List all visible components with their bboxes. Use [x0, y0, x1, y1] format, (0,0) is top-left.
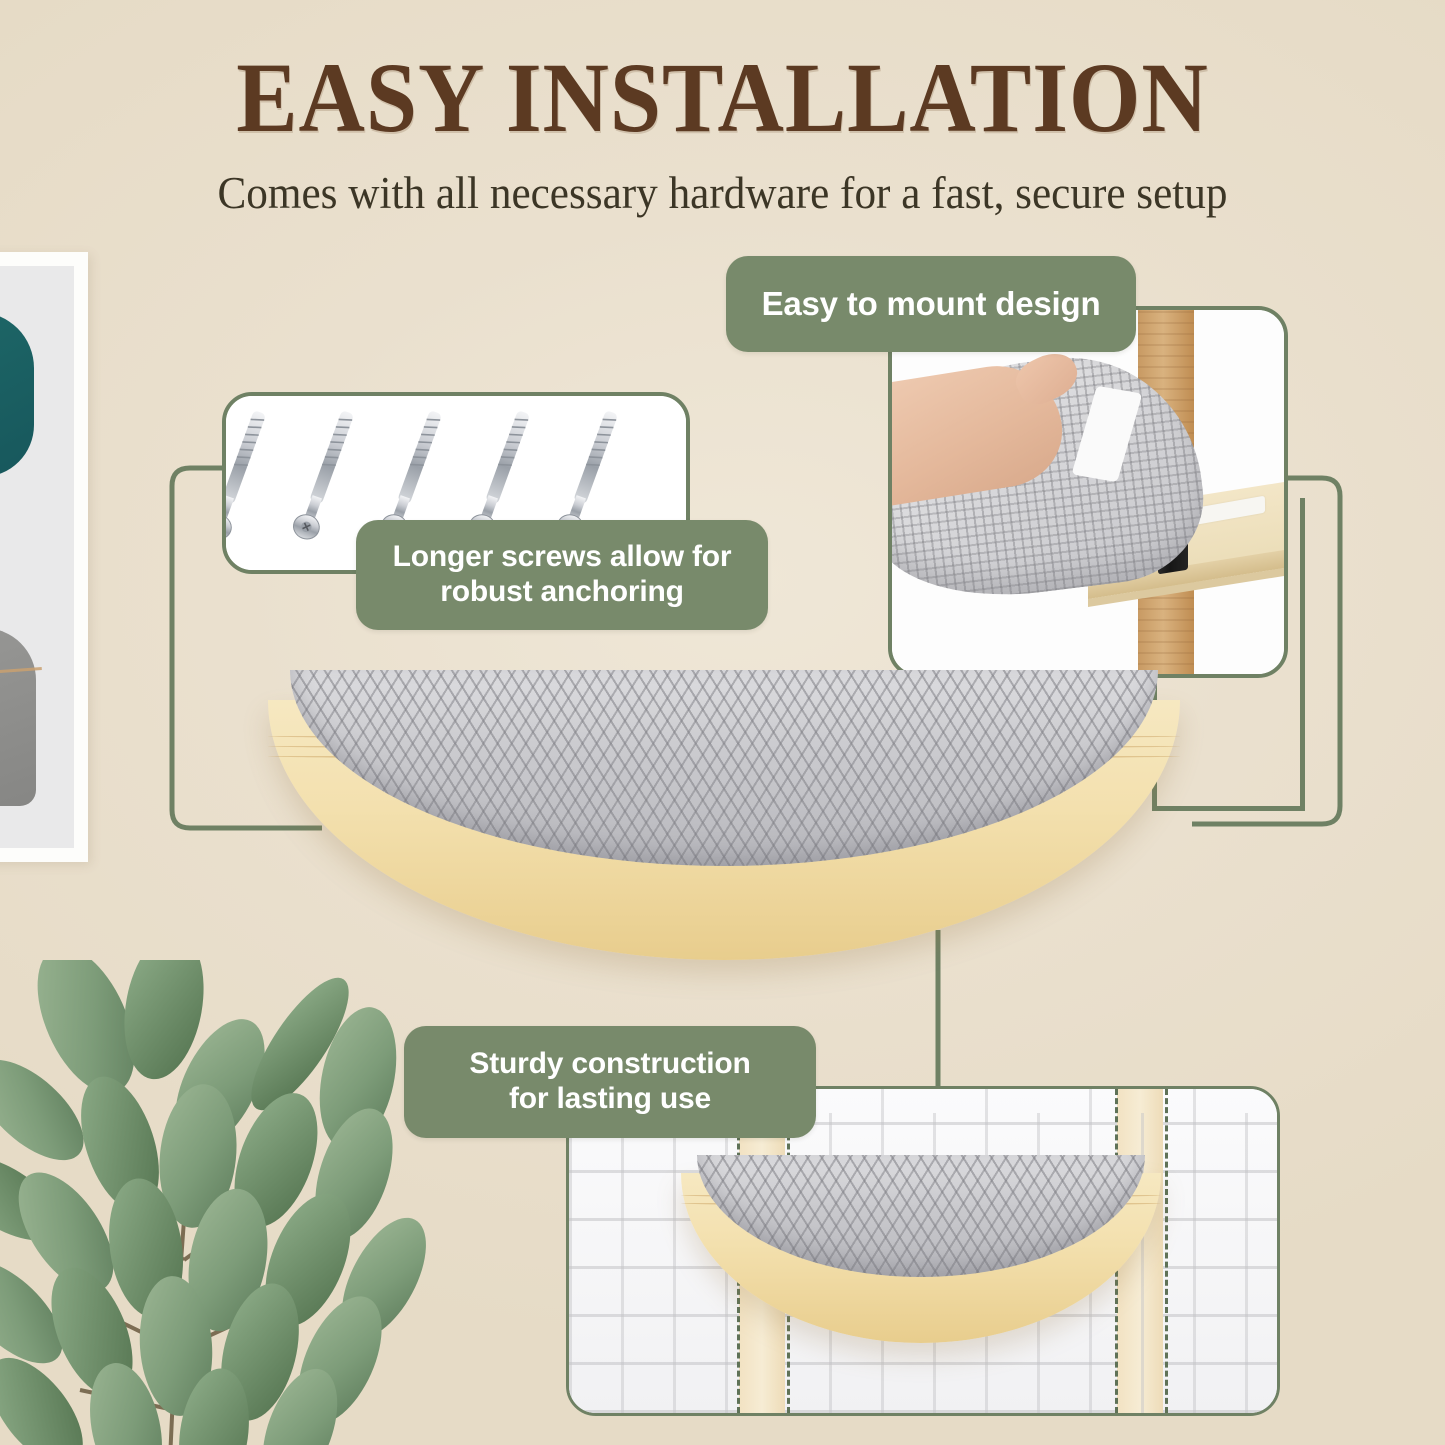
wall-mounted-hammock	[681, 1173, 1161, 1343]
teal-shape	[0, 312, 34, 477]
callout-longer-screws[interactable]: Longer screws allow for robust anchoring	[356, 520, 768, 630]
page-subtitle: Comes with all necessary hardware for a …	[29, 170, 1416, 217]
callout-easy-to-mount-label: Easy to mount design	[762, 285, 1101, 323]
gray-shape	[0, 628, 36, 806]
art-mat	[0, 266, 74, 848]
callout-longer-screws-line2: robust anchoring	[440, 575, 683, 610]
page-title: EASY INSTALLATION	[58, 48, 1387, 148]
mount-photo-inner	[892, 310, 1284, 674]
connector-right-elbow-v	[1300, 498, 1305, 810]
infographic-canvas: EASY INSTALLATION Comes with all necessa…	[0, 0, 1445, 1445]
callout-sturdy-line2: for lasting use	[509, 1082, 711, 1117]
callout-longer-screws-line1: Longer screws allow for	[393, 540, 732, 575]
curved-wooden-cat-hammock	[268, 700, 1180, 960]
callout-sturdy-line1: Sturdy construction	[469, 1047, 750, 1082]
header: EASY INSTALLATION Comes with all necessa…	[0, 48, 1445, 217]
framed-abstract-art	[0, 252, 88, 862]
callout-sturdy-construction[interactable]: Sturdy construction for lasting use	[404, 1026, 816, 1138]
rubber-plant-foliage	[0, 960, 470, 1445]
callout-easy-to-mount[interactable]: Easy to mount design	[726, 256, 1136, 352]
stud-dash-4	[1165, 1089, 1168, 1413]
mounting-demo-photo	[888, 306, 1288, 678]
